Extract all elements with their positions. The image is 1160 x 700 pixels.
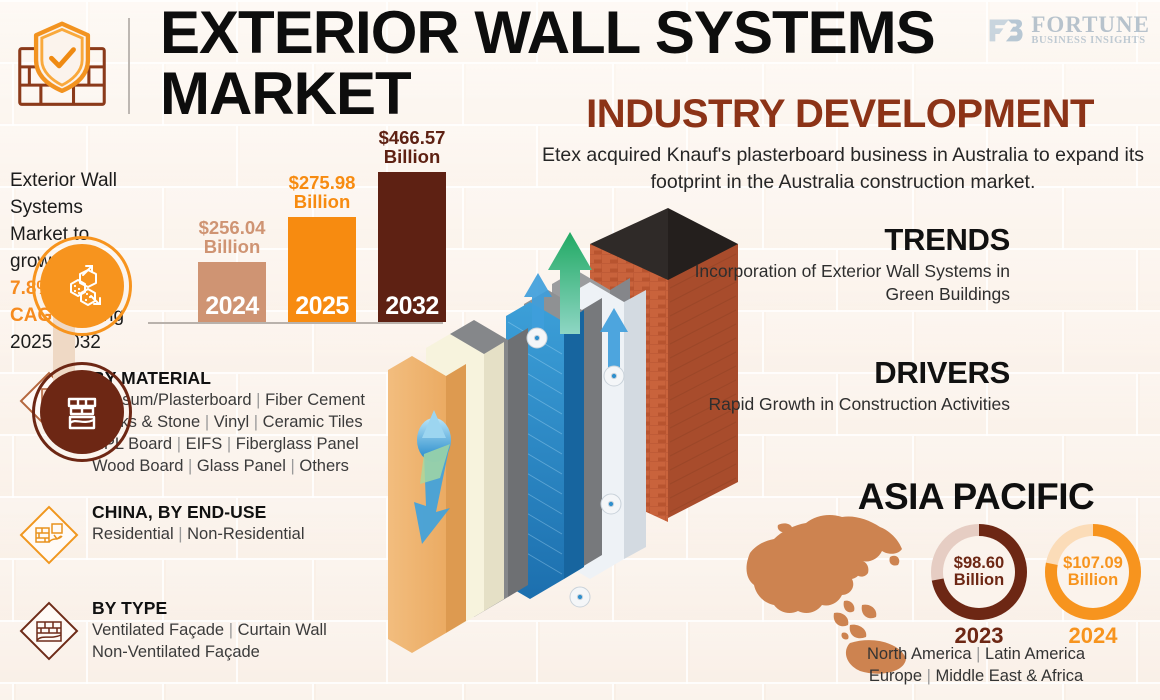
- brick-facade-icon: [18, 600, 80, 662]
- brick-trowel-icon: [58, 388, 106, 436]
- fb-monogram-icon: [988, 13, 1025, 47]
- industry-development-body: Etex acquired Knauf's plasterboard busin…: [528, 142, 1158, 196]
- brand-name: FORTUNE: [1031, 13, 1150, 36]
- bar-value-2025: $275.98Billion: [266, 173, 378, 217]
- donut-2023: $98.60 Billion 2023: [930, 523, 1028, 621]
- brand-subtitle: BUSINESS INSIGHTS: [1031, 36, 1150, 47]
- facade-layer: [388, 356, 466, 653]
- brick-wall-shield-icon: [14, 16, 110, 112]
- title-divider: [128, 18, 130, 114]
- donut-2024: $107.09 Billion 2024: [1044, 523, 1142, 621]
- donut-2023-unit: Billion: [954, 572, 1004, 589]
- regions-list: North America | Latin America Europe | M…: [808, 644, 1144, 688]
- bar-2025: 2025: [288, 217, 356, 322]
- construction-site-icon: [18, 504, 80, 566]
- bar-value-2032: $466.57Billion: [356, 128, 468, 172]
- bar-year-2024: 2024: [198, 292, 266, 321]
- trends-block: TRENDS Incorporation of Exterior Wall Sy…: [650, 222, 1010, 306]
- trends-title: TRENDS: [650, 222, 1010, 258]
- drivers-title: DRIVERS: [650, 355, 1010, 391]
- cagr-line1: Exterior Wall Systems: [10, 170, 117, 218]
- bar-value-2024: $256.04Billion: [176, 218, 288, 262]
- category-title: CHINA, BY END-USE: [92, 502, 266, 523]
- hexagon-molecule-arrows-icon: [57, 261, 107, 311]
- trends-badge[interactable]: [40, 244, 124, 328]
- industry-development-title: INDUSTRY DEVELOPMENT: [520, 92, 1160, 137]
- bar-2024: 2024: [198, 262, 266, 322]
- donut-2023-center: $98.60 Billion: [943, 536, 1015, 608]
- drivers-block: DRIVERS Rapid Growth in Construction Act…: [650, 355, 1010, 416]
- drivers-badge[interactable]: [40, 370, 124, 454]
- bar-group-2025: $275.98Billion 2025: [288, 217, 356, 322]
- donut-2024-value: $107.09: [1063, 555, 1123, 572]
- donut-2024-center: $107.09 Billion: [1057, 536, 1129, 608]
- donut-2023-value: $98.60: [954, 555, 1004, 572]
- category-title: BY TYPE: [92, 598, 167, 619]
- drivers-body: Rapid Growth in Construction Activities: [650, 393, 1010, 416]
- bar-year-2025: 2025: [288, 292, 356, 321]
- donut-2024-unit: Billion: [1068, 572, 1118, 589]
- trends-body: Incorporation of Exterior Wall Systems i…: [650, 260, 1010, 306]
- brand-logo: FORTUNE BUSINESS INSIGHTS: [988, 6, 1150, 54]
- bar-group-2024: $256.04Billion 2024: [198, 262, 266, 322]
